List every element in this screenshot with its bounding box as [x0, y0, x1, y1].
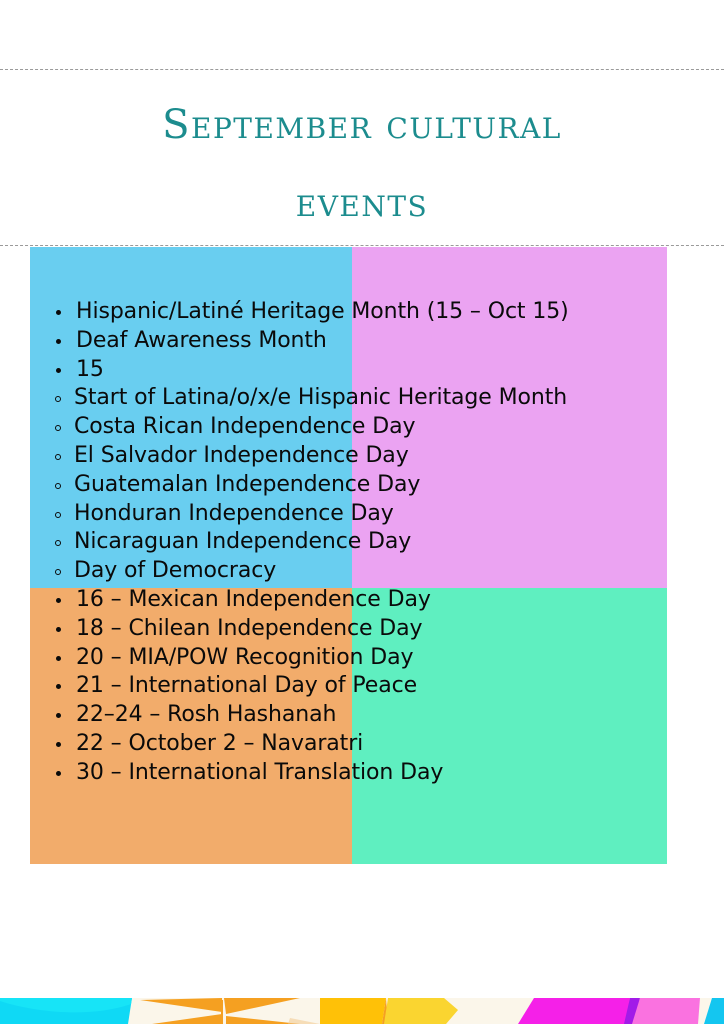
sub-list-item: Nicaraguan Independence Day	[44, 528, 684, 557]
list-item: 18 – Chilean Independence Day	[44, 615, 684, 644]
events-list-container: Hispanic/Latiné Heritage Month (15 – Oct…	[44, 298, 684, 788]
sub-list: Start of Latina/o/x/e Hispanic Heritage …	[44, 384, 684, 586]
sub-list-item-label: Start of Latina/o/x/e Hispanic Heritage …	[74, 385, 567, 410]
list-item-label: 30 – International Translation Day	[76, 759, 443, 788]
decorative-footer-band	[0, 998, 724, 1024]
list-item: 16 – Mexican Independence Day	[44, 586, 684, 615]
list-item: Hispanic/Latiné Heritage Month (15 – Oct…	[44, 298, 684, 327]
events-list: Hispanic/Latiné Heritage Month (15 – Oct…	[44, 298, 684, 788]
list-item: Deaf Awareness Month	[44, 327, 684, 356]
page-title-line-2: events	[0, 164, 724, 242]
list-item-label: 18 – Chilean Independence Day	[76, 615, 422, 644]
list-item: 20 – MIA/POW Recognition Day	[44, 644, 684, 673]
sub-list-item-label: El Salvador Independence Day	[74, 443, 409, 468]
list-item: 22 – October 2 – Navaratri	[44, 730, 684, 759]
list-item-label: 16 – Mexican Independence Day	[76, 586, 431, 615]
list-item-label: Deaf Awareness Month	[76, 327, 327, 356]
guide-line-top	[0, 69, 724, 70]
sub-list-item-label: Day of Democracy	[74, 558, 276, 583]
sub-list-item: Honduran Independence Day	[44, 500, 684, 529]
sub-list-item: Guatemalan Independence Day	[44, 471, 684, 500]
list-item-label: 22–24 – Rosh Hashanah	[76, 701, 336, 730]
sub-list-item-label: Nicaraguan Independence Day	[74, 529, 411, 554]
sub-list-item: Start of Latina/o/x/e Hispanic Heritage …	[44, 384, 684, 413]
list-item-label: 20 – MIA/POW Recognition Day	[76, 644, 413, 673]
list-item-label: Hispanic/Latiné Heritage Month (15 – Oct…	[76, 298, 569, 327]
sub-list-item-label: Honduran Independence Day	[74, 501, 394, 526]
list-item: 30 – International Translation Day	[44, 759, 684, 788]
sub-list-item: El Salvador Independence Day	[44, 442, 684, 471]
sub-list-holder: Start of Latina/o/x/e Hispanic Heritage …	[44, 384, 684, 586]
list-item-label: 22 – October 2 – Navaratri	[76, 730, 363, 759]
sub-list-item-label: Costa Rican Independence Day	[74, 414, 415, 439]
sub-list-item-label: Guatemalan Independence Day	[74, 472, 420, 497]
list-item: 22–24 – Rosh Hashanah	[44, 701, 684, 730]
list-item: 15	[44, 356, 684, 385]
list-item-label: 21 – International Day of Peace	[76, 672, 417, 701]
sub-list-item: Day of Democracy	[44, 557, 684, 586]
page-title-line-1: September cultural	[0, 86, 724, 164]
sub-list-item: Costa Rican Independence Day	[44, 413, 684, 442]
list-item: 21 – International Day of Peace	[44, 672, 684, 701]
guide-line-middle	[0, 245, 724, 246]
decorative-shapes	[0, 998, 724, 1024]
list-item-label: 15	[76, 356, 104, 385]
page-title: September cultural events	[0, 86, 724, 242]
